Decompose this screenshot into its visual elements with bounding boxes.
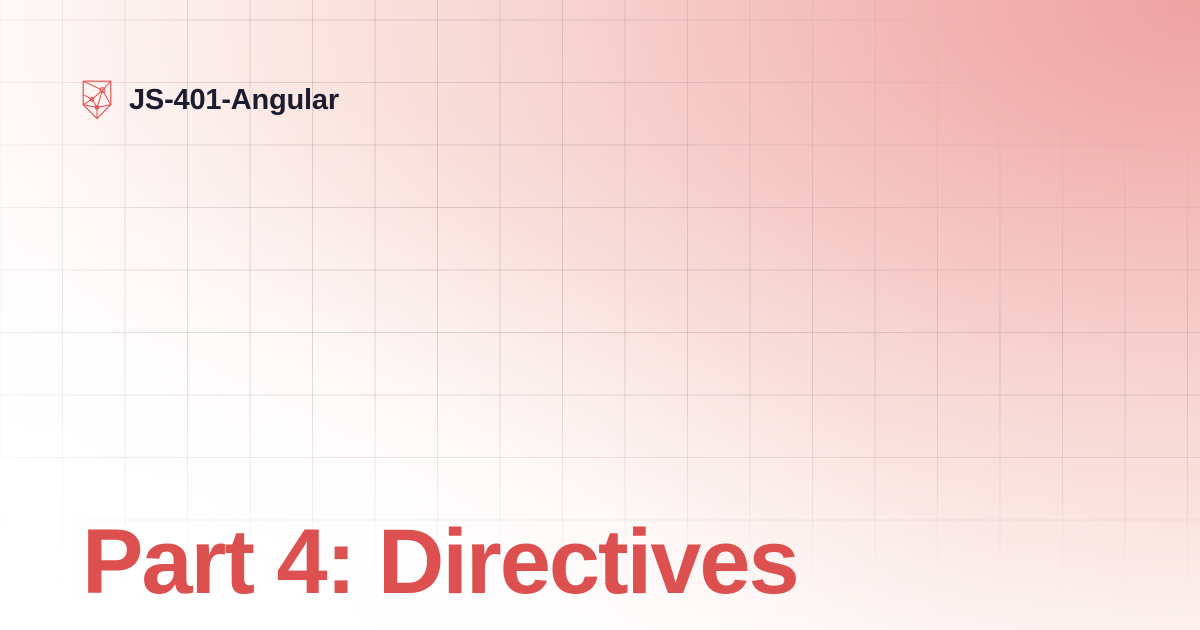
repo-name: JS-401-Angular <box>129 86 339 115</box>
card-content: JS-401-Angular Part 4: Directives <box>0 0 1200 630</box>
page-title: Part 4: Directives <box>82 514 1122 612</box>
angular-shield-network-icon <box>82 80 112 120</box>
og-social-card: JS-401-Angular Part 4: Directives <box>0 0 1200 630</box>
brand-header: JS-401-Angular <box>82 78 339 122</box>
